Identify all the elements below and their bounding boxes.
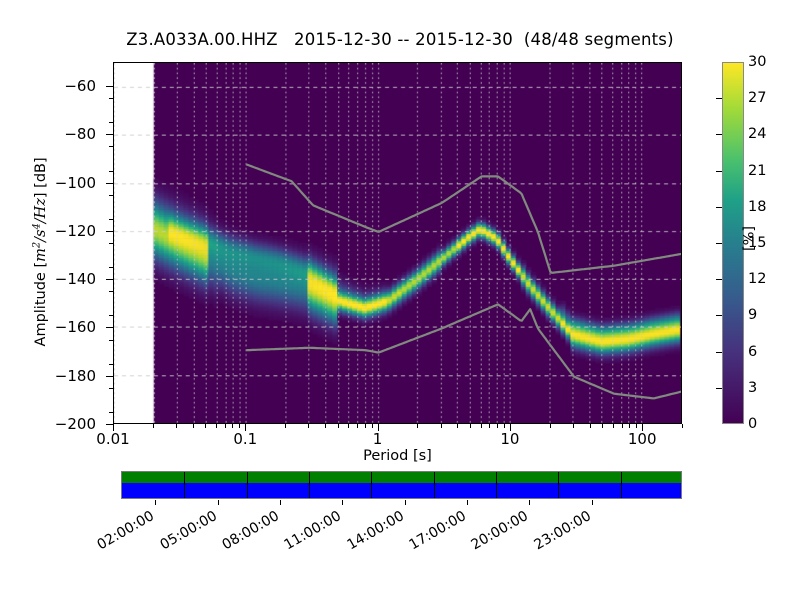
- x-tick-minor: [417, 424, 418, 428]
- x-tick-minor: [550, 424, 551, 428]
- ppsd-plot-area[interactable]: [113, 62, 682, 424]
- y-tick: [106, 183, 113, 184]
- x-tick-minor: [504, 424, 505, 428]
- y-tick-minor: [109, 315, 113, 316]
- x-tick-minor: [205, 424, 206, 428]
- low-noise-model-curve: [246, 305, 681, 399]
- x-tick-minor: [232, 424, 233, 428]
- x-tick-minor: [622, 424, 623, 428]
- y-tick-minor: [109, 122, 113, 123]
- colorbar-tick-label: 30: [748, 54, 766, 70]
- colorbar-tick: [716, 315, 722, 316]
- colorbar-tick: [716, 134, 722, 135]
- timeline-tick: [467, 500, 468, 505]
- timeline-band-used: [122, 483, 681, 498]
- y-tick-minor: [109, 146, 113, 147]
- timeline-label: 17:00:00: [406, 508, 468, 553]
- x-tick-minor: [225, 424, 226, 428]
- x-tick-minor: [193, 424, 194, 428]
- x-tick-minor: [308, 424, 309, 428]
- y-tick-minor: [109, 171, 113, 172]
- x-tick-minor: [497, 424, 498, 428]
- x-tick-minor: [481, 424, 482, 428]
- x-tick-minor: [216, 424, 217, 428]
- colorbar-tick-label: 0: [748, 416, 757, 432]
- x-tick-minor: [602, 424, 603, 428]
- x-tick-minor: [613, 424, 614, 428]
- y-tick: [106, 279, 113, 280]
- timeline-label: 05:00:00: [157, 508, 219, 553]
- x-tick-minor: [489, 424, 490, 428]
- colorbar-tick: [716, 98, 722, 99]
- high-noise-model-curve: [246, 164, 681, 272]
- x-tick-label: 1: [373, 430, 383, 448]
- x-tick-minor: [441, 424, 442, 428]
- colorbar-tick: [716, 352, 722, 353]
- y-tick-label: −200: [55, 415, 96, 433]
- colorbar-tick-label: 6: [748, 344, 757, 360]
- timeline-tick: [280, 500, 281, 505]
- x-tick-minor: [590, 424, 591, 428]
- y-tick-minor: [109, 291, 113, 292]
- timeline-separator: [247, 472, 248, 498]
- y-tick-minor: [109, 412, 113, 413]
- timeline-separator: [184, 472, 185, 498]
- timeline-label: 08:00:00: [219, 508, 281, 553]
- y-tick-minor: [109, 364, 113, 365]
- x-tick-label: 0.01: [96, 430, 129, 448]
- x-tick-minor: [338, 424, 339, 428]
- x-tick-minor: [573, 424, 574, 428]
- y-axis-title: Amplitude [m2/s4/Hz] [dB]: [31, 72, 49, 432]
- y-tick: [106, 86, 113, 87]
- segment-timeline[interactable]: [121, 471, 682, 499]
- timeline-tick: [529, 500, 530, 505]
- timeline-label: 11:00:00: [282, 508, 344, 553]
- x-tick-label: 10: [500, 430, 519, 448]
- y-tick: [106, 327, 113, 328]
- x-tick-minor: [470, 424, 471, 428]
- y-tick-minor: [109, 195, 113, 196]
- y-tick-label: −160: [55, 318, 96, 336]
- colorbar-tick-label: 18: [748, 199, 766, 215]
- y-tick: [106, 424, 113, 425]
- timeline-tick: [342, 500, 343, 505]
- x-tick-minor: [239, 424, 240, 428]
- colorbar-tick: [716, 207, 722, 208]
- noise-model-overlay: [114, 63, 681, 423]
- timeline-separator: [434, 472, 435, 498]
- y-tick-minor: [109, 340, 113, 341]
- y-tick-label: −100: [55, 174, 96, 192]
- timeline-tick: [405, 500, 406, 505]
- x-axis-title: Period [s]: [0, 448, 795, 464]
- timeline-label: 20:00:00: [469, 508, 531, 553]
- x-tick-minor: [285, 424, 286, 428]
- timeline-label: 14:00:00: [344, 508, 406, 553]
- x-tick-minor: [636, 424, 637, 428]
- timeline-band-available: [122, 472, 681, 483]
- y-tick-minor: [109, 98, 113, 99]
- colorbar-tick: [716, 243, 722, 244]
- colorbar-tick-label: 27: [748, 90, 766, 106]
- timeline-label: 23:00:00: [531, 508, 593, 553]
- ppsd-figure: Z3.A033A.00.HHZ 2015-12-30 -- 2015-12-30…: [0, 0, 800, 600]
- timeline-tick: [592, 500, 593, 505]
- colorbar-tick-label: 3: [748, 380, 757, 396]
- timeline-separator: [496, 472, 497, 498]
- y-tick: [106, 134, 113, 135]
- y-tick: [106, 231, 113, 232]
- x-tick-minor: [372, 424, 373, 428]
- x-tick-minor: [457, 424, 458, 428]
- x-tick-minor: [357, 424, 358, 428]
- timeline-label: 02:00:00: [95, 508, 157, 553]
- x-tick-minor: [348, 424, 349, 428]
- timeline-separator: [558, 472, 559, 498]
- y-tick-label: −140: [55, 270, 96, 288]
- y-tick-label: −80: [64, 125, 96, 143]
- colorbar-tick-label: 12: [748, 271, 766, 287]
- x-tick-label: 0.1: [233, 430, 257, 448]
- y-tick-minor: [109, 388, 113, 389]
- timeline-separator: [621, 472, 622, 498]
- colorbar-title: [%]: [742, 226, 758, 251]
- y-tick-minor: [109, 267, 113, 268]
- y-tick: [106, 376, 113, 377]
- colorbar-tick-label: 9: [748, 307, 757, 323]
- timeline-tick: [218, 500, 219, 505]
- x-tick-label: 100: [628, 430, 657, 448]
- colorbar-tick: [716, 388, 722, 389]
- timeline-separator: [309, 472, 310, 498]
- x-tick-minor: [682, 424, 683, 428]
- x-tick-minor: [153, 424, 154, 428]
- y-tick-minor: [109, 219, 113, 220]
- y-tick-label: −120: [55, 222, 96, 240]
- timeline-tick: [155, 500, 156, 505]
- y-tick-minor: [109, 243, 113, 244]
- x-tick-minor: [176, 424, 177, 428]
- timeline-separator: [371, 472, 372, 498]
- x-tick-minor: [365, 424, 366, 428]
- page-title: Z3.A033A.00.HHZ 2015-12-30 -- 2015-12-30…: [0, 30, 800, 49]
- colorbar-tick-label: 24: [748, 126, 766, 142]
- colorbar-tick: [716, 279, 722, 280]
- y-tick-label: −60: [64, 77, 96, 95]
- x-tick-minor: [325, 424, 326, 428]
- y-tick-label: −180: [55, 367, 96, 385]
- colorbar-tick: [716, 171, 722, 172]
- x-tick-minor: [629, 424, 630, 428]
- colorbar-tick-label: 21: [748, 163, 766, 179]
